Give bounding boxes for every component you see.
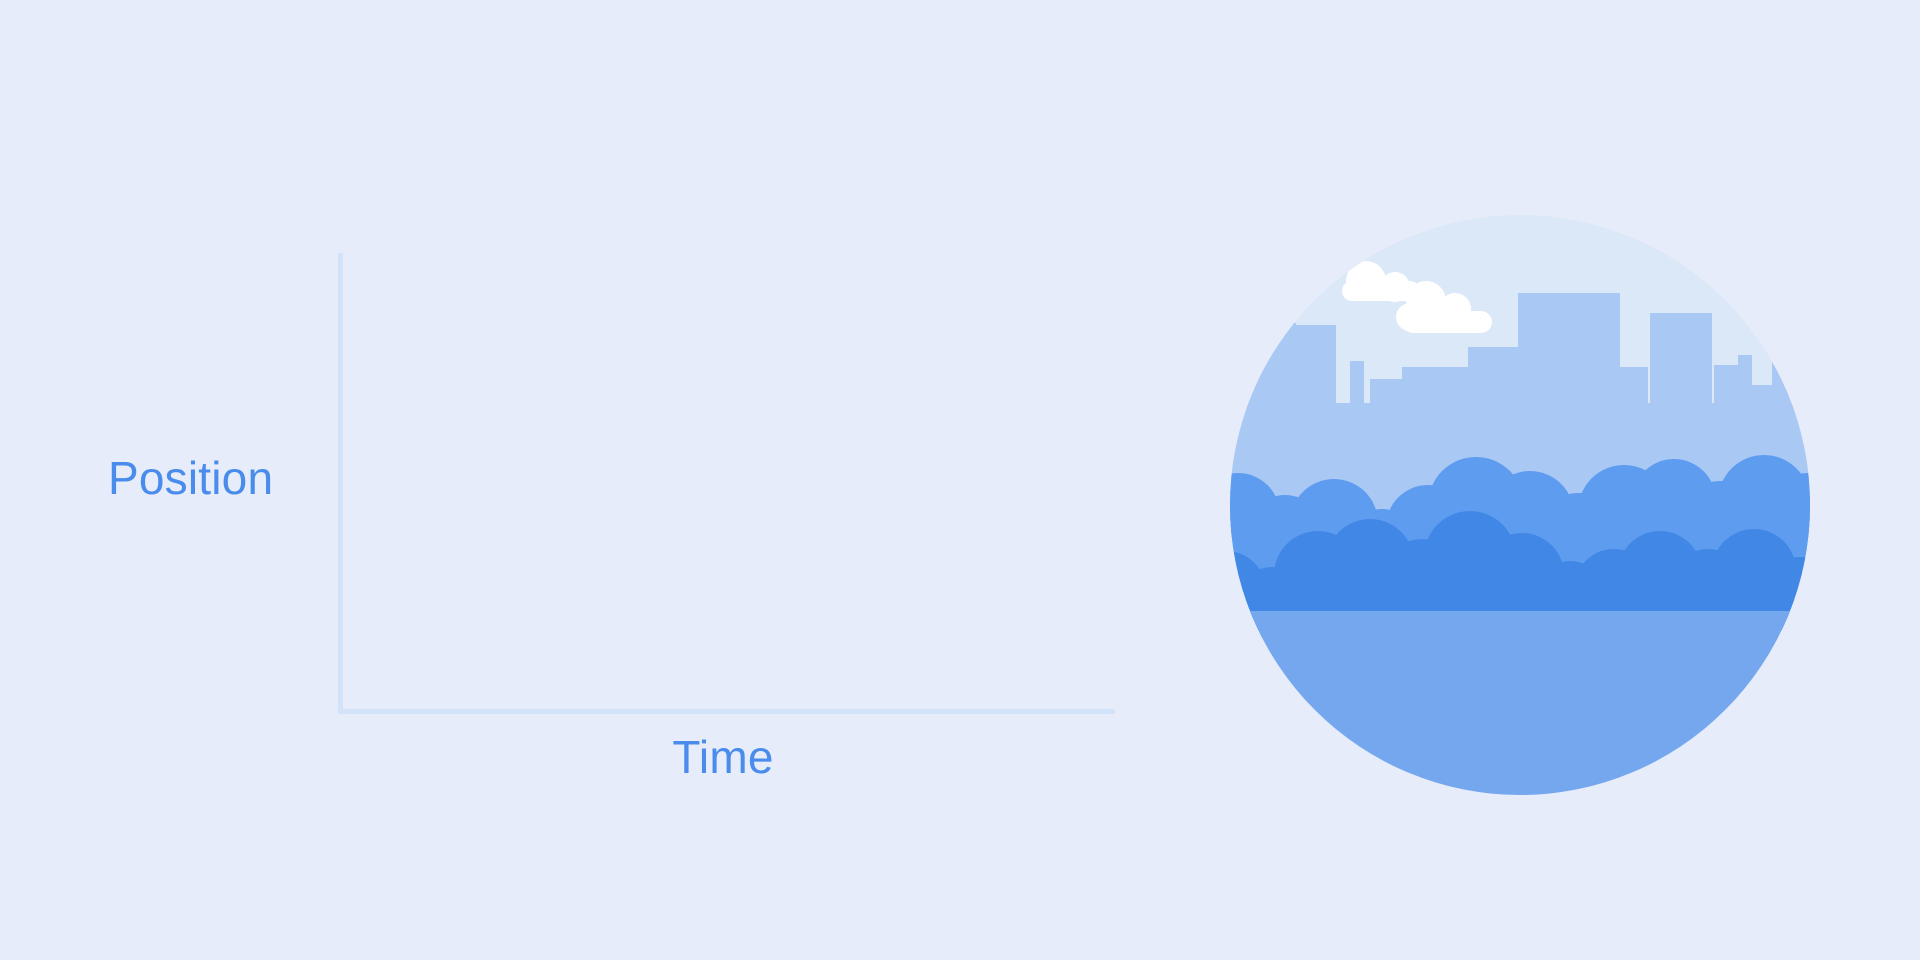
- y-axis-line: [338, 253, 343, 714]
- x-axis-line: [338, 709, 1115, 714]
- city-scene-illustration: [1230, 215, 1810, 795]
- position-time-graph: Position Time: [0, 0, 1200, 960]
- y-axis-label: Position: [108, 451, 273, 505]
- water-surface: [1230, 611, 1810, 795]
- page-root: Position Time: [0, 0, 1920, 960]
- x-axis-label: Time: [658, 730, 788, 784]
